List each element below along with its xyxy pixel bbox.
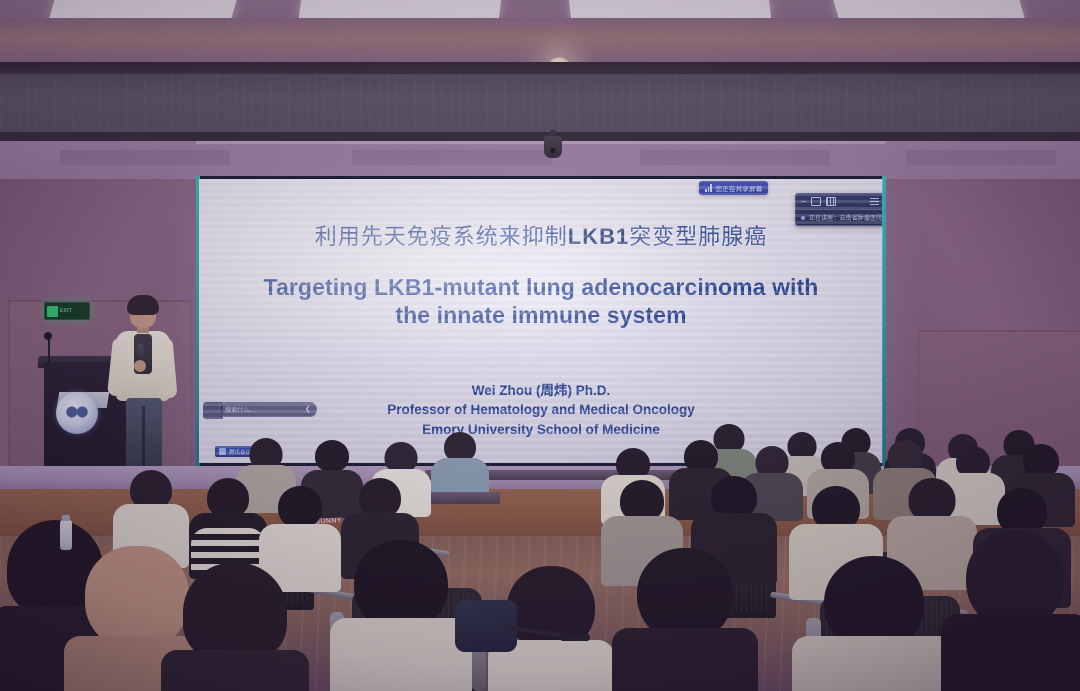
presenter-name: Wei Zhou (周炜) Ph.D.: [387, 381, 695, 401]
hamburger-menu-icon[interactable]: [870, 198, 879, 205]
title-en-line2: the innate immune system: [264, 301, 819, 329]
chevron-left-icon[interactable]: ❮: [305, 406, 311, 413]
control-panel-status-label: 正在讲座：云南省肿瘤医院: [809, 213, 882, 222]
ceiling: [0, 0, 1080, 62]
exit-sign-label: EXIT: [60, 309, 72, 314]
university-crest-icon: [56, 392, 98, 434]
speaker: [112, 298, 174, 474]
right-wall-panel: [918, 330, 1080, 484]
title-cn-prefix: 利用先天免疫系统来抑制: [315, 224, 568, 249]
screen-share-badge[interactable]: 您正在共享屏幕: [699, 181, 768, 195]
wall-vent: [60, 150, 230, 165]
ceiling-light-panel: [833, 0, 1025, 20]
microphone-icon: [44, 332, 52, 340]
screen-share-label: 您正在共享屏幕: [716, 183, 763, 193]
ceiling-camera-icon: [544, 136, 562, 158]
soffit-line: [196, 141, 886, 144]
grid-icon[interactable]: [826, 197, 836, 206]
lower-beam: [0, 132, 1080, 141]
title-cn-suffix: 突变型肺腺癌: [629, 224, 767, 249]
title-cn-gene: LKB1: [568, 224, 629, 249]
app-logo-icon: [219, 448, 226, 455]
ceiling-light-panel: [569, 0, 772, 20]
stage-front: [0, 489, 1080, 541]
speaker-hair: [127, 295, 159, 315]
wall-vent: [640, 150, 830, 165]
search-placeholder: 搜索什么...: [225, 405, 255, 414]
acoustic-panel-band: [0, 74, 1080, 132]
ceiling-light-panel: [49, 0, 237, 20]
search-input[interactable]: 搜索什么... ❮: [219, 402, 317, 417]
window-icon[interactable]: [811, 197, 821, 206]
slide-content: 利用先天免疫系统来抑制LKB1突变型肺腺癌 Targeting LKB1-mut…: [199, 179, 883, 463]
projection-screen: 利用先天免疫系统来抑制LKB1突变型肺腺癌 Targeting LKB1-mut…: [199, 179, 883, 463]
ceiling-strip: [0, 18, 1080, 62]
livestream-badge: 腾讯会议直播: [215, 446, 266, 457]
wall-vent: [906, 150, 1056, 165]
presenter-title: Professor of Hematology and Medical Onco…: [387, 400, 695, 420]
presenter-affiliation: Emory University School of Medicine: [387, 420, 695, 440]
meeting-control-panel[interactable]: 正在讲座：云南省肿瘤医院: [795, 193, 883, 226]
signal-bars-icon: [705, 184, 712, 192]
speaker-legs: [126, 398, 162, 474]
minimize-icon[interactable]: [801, 201, 806, 203]
title-en-line1: Targeting LKB1-mutant lung adenocarcinom…: [264, 273, 819, 301]
lecture-hall-photo: EXIT 利用先天免疫系统来抑制LKB1突变型肺腺癌 Targeting LKB…: [0, 0, 1080, 691]
exit-sign: EXIT: [44, 302, 90, 320]
wall-vent: [352, 150, 552, 165]
control-panel-toolbar[interactable]: [796, 194, 883, 210]
ceiling-light-panel: [299, 0, 502, 20]
speaker-hand: [134, 360, 146, 372]
hall-floor: [0, 536, 1080, 691]
ceiling-beam: [0, 62, 1080, 74]
slide-title-chinese: 利用先天免疫系统来抑制LKB1突变型肺腺癌: [315, 223, 767, 251]
livestream-label: 腾讯会议直播: [229, 448, 262, 456]
slide-title-english: Targeting LKB1-mutant lung adenocarcinom…: [264, 273, 819, 329]
presenter-block: Wei Zhou (周炜) Ph.D. Professor of Hematol…: [387, 381, 695, 440]
record-dot-icon: [801, 216, 805, 220]
projection-screen-frame: 利用先天免疫系统来抑制LKB1突变型肺腺癌 Targeting LKB1-mut…: [196, 176, 886, 466]
running-person-icon: [47, 306, 58, 317]
control-panel-status: 正在讲座：云南省肿瘤医院: [796, 210, 883, 225]
